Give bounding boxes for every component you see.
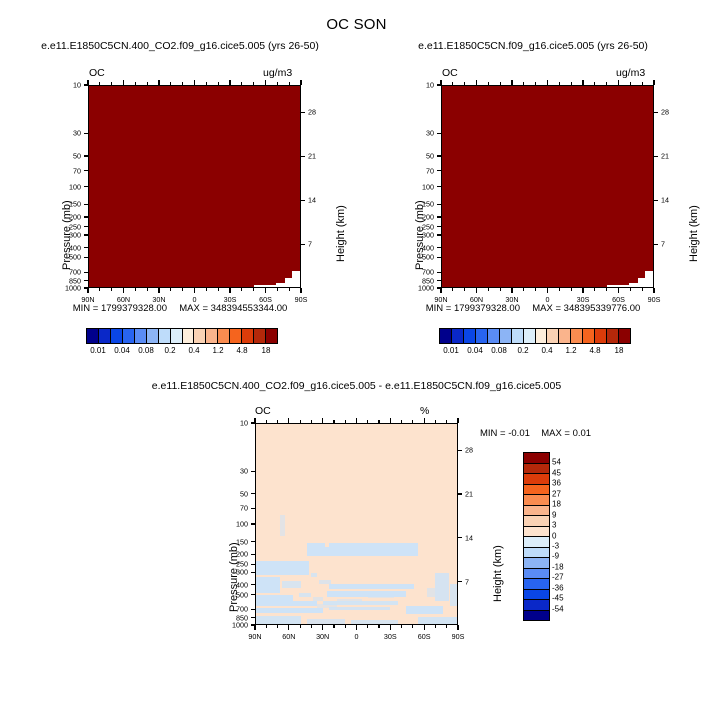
anomaly-band — [311, 573, 317, 577]
colorbar-cell — [440, 329, 452, 343]
colorbar-cell — [254, 329, 266, 343]
colorbar-tick-label: -18 — [552, 562, 564, 571]
min-value-diff: MIN = -0.01 — [480, 428, 530, 439]
y2-tick-label: 14 — [308, 196, 316, 205]
y2-tick-mark — [301, 244, 305, 245]
x-top-minor-tick-mark — [311, 420, 312, 423]
x-minor-tick-mark — [500, 288, 501, 291]
x-top-minor-tick-mark — [147, 82, 148, 85]
y-tick-label: 100 — [399, 182, 434, 191]
colorbar-tick-label: -36 — [552, 583, 564, 592]
y2-tick-mark — [654, 112, 658, 113]
y2-tick-mark — [458, 581, 462, 582]
min-value-control: MIN = 1799379328.00 — [426, 303, 520, 314]
colorbar-labels-control: 0.010.040.080.20.41.24.818 — [439, 346, 629, 358]
colorbar-cell — [524, 537, 549, 548]
anomaly-band — [307, 619, 346, 625]
x-minor-tick-mark — [523, 288, 524, 291]
colorbar-cell — [583, 329, 595, 343]
x-minor-tick-mark — [401, 625, 402, 628]
y2-tick-mark — [458, 537, 462, 538]
anomaly-band — [256, 616, 301, 625]
y-tick-mark — [251, 617, 255, 618]
colorbar-test-case — [86, 328, 278, 344]
colorbar-tick-label: 18 — [262, 346, 271, 355]
terrain-mask-notch-3 — [276, 283, 285, 287]
colorbar-cell — [524, 495, 549, 506]
panel-difference: e.e11.E1850C5CN.400_CO2.f09_g16.cice5.00… — [100, 380, 613, 660]
x-tick-mark — [390, 625, 391, 630]
y2-tick-label: 7 — [308, 240, 312, 249]
max-value-diff: MAX = 0.01 — [541, 428, 591, 439]
y2-axis-label-height-right: Height (km) — [688, 205, 700, 262]
colorbar-cell — [524, 329, 536, 343]
anomaly-band — [280, 515, 285, 536]
y-tick-label: 10 — [213, 419, 248, 428]
x-top-minor-tick-mark — [535, 82, 536, 85]
anomaly-band — [317, 604, 337, 608]
y2-tick-label: 28 — [465, 446, 473, 455]
colorbar-tick-label: 0.08 — [138, 346, 154, 355]
terrain-mask-notch-2 — [285, 278, 292, 287]
y-tick-label: 200 — [399, 213, 434, 222]
y-tick-mark — [437, 234, 441, 235]
x-top-tick-mark — [322, 418, 323, 423]
x-minor-tick-mark — [435, 625, 436, 628]
y-tick-label: 1000 — [399, 284, 434, 293]
colorbar-cell — [595, 329, 607, 343]
x-tick-mark — [582, 288, 583, 293]
anomaly-band — [450, 584, 458, 607]
x-minor-tick-mark — [452, 288, 453, 291]
y2-tick-label: 28 — [661, 108, 669, 117]
y2-tick-label: 14 — [661, 196, 669, 205]
x-top-tick-mark — [158, 80, 159, 85]
colorbar-cell — [571, 329, 583, 343]
variable-label-control: OC — [442, 67, 458, 79]
x-top-minor-tick-mark — [345, 420, 346, 423]
x-top-minor-tick-mark — [218, 82, 219, 85]
x-minor-tick-mark — [345, 625, 346, 628]
colorbar-tick-label: -3 — [552, 541, 559, 550]
colorbar-tick-label: 0.01 — [90, 346, 106, 355]
y2-tick-mark — [458, 493, 462, 494]
colorbar-cell — [476, 329, 488, 343]
x-top-tick-mark — [356, 418, 357, 423]
colorbar-tick-label: 4.8 — [236, 346, 247, 355]
colorbar-cell — [524, 453, 549, 464]
x-top-minor-tick-mark — [253, 82, 254, 85]
y-tick-label: 300 — [46, 230, 81, 239]
y2-tick-mark — [654, 156, 658, 157]
y-tick-label: 400 — [399, 243, 434, 252]
y-tick-label: 1000 — [46, 284, 81, 293]
x-top-minor-tick-mark — [401, 420, 402, 423]
colorbar-difference — [523, 452, 550, 621]
y-tick-mark — [251, 523, 255, 524]
colorbar-cell — [242, 329, 254, 343]
colorbar-cell — [111, 329, 123, 343]
anomaly-band — [307, 543, 325, 557]
x-minor-tick-mark — [277, 288, 278, 291]
x-top-tick-mark — [653, 80, 654, 85]
x-minor-tick-mark — [367, 625, 368, 628]
y-tick-label: 100 — [213, 520, 248, 529]
colorbar-tick-label: -27 — [552, 573, 564, 582]
x-top-minor-tick-mark — [559, 82, 560, 85]
heatmap-fill-control — [442, 86, 653, 287]
x-minor-tick-mark — [488, 288, 489, 291]
colorbar-cell — [464, 329, 476, 343]
colorbar-cell — [183, 329, 195, 343]
x-top-minor-tick-mark — [170, 82, 171, 85]
y-tick-mark — [251, 564, 255, 565]
x-top-tick-mark — [194, 80, 195, 85]
y2-tick-mark — [654, 244, 658, 245]
colorbar-cell — [524, 590, 549, 601]
y-tick-mark — [84, 133, 88, 134]
colorbar-tick-label: 0.01 — [443, 346, 459, 355]
y2-tick-label: 7 — [661, 240, 665, 249]
colorbar-tick-label: 0 — [552, 531, 556, 540]
anomaly-band — [299, 593, 311, 597]
x-tick-mark — [457, 625, 458, 630]
x-tick-mark — [158, 288, 159, 293]
x-top-minor-tick-mark — [435, 420, 436, 423]
y-tick-mark — [84, 234, 88, 235]
colorbar-cell — [512, 329, 524, 343]
colorbar-tick-label: 27 — [552, 489, 561, 498]
y-tick-label: 10 — [399, 81, 434, 90]
x-minor-tick-mark — [378, 625, 379, 628]
page-title: OC SON — [0, 16, 713, 33]
y-tick-label: 300 — [399, 230, 434, 239]
panel-title-difference: e.e11.E1850C5CN.400_CO2.f09_g16.cice5.00… — [100, 380, 613, 392]
x-minor-tick-mark — [559, 288, 560, 291]
colorbar-labels-difference: 5445362718930-3-9-18-27-36-45-54 — [552, 452, 592, 619]
colorbar-tick-label: 18 — [552, 500, 561, 509]
y2-tick-mark — [301, 156, 305, 157]
x-tick-mark — [476, 288, 477, 293]
x-minor-tick-mark — [594, 288, 595, 291]
anomaly-band — [325, 547, 329, 557]
colorbar-tick-label: 1.2 — [565, 346, 576, 355]
x-minor-tick-mark — [182, 288, 183, 291]
colorbar-control-case — [439, 328, 631, 344]
x-tick-mark — [618, 288, 619, 293]
x-top-minor-tick-mark — [571, 82, 572, 85]
plot-area-difference — [255, 423, 458, 625]
panel-test-case: e.e11.E1850C5CN.400_CO2.f09_g16.cice5.00… — [15, 40, 345, 370]
y-tick-mark — [84, 155, 88, 156]
y-tick-label: 400 — [46, 243, 81, 252]
y-tick-mark — [437, 226, 441, 227]
anomaly-band — [427, 588, 435, 597]
x-top-tick-mark — [457, 418, 458, 423]
x-top-minor-tick-mark — [277, 82, 278, 85]
y2-tick-mark — [654, 200, 658, 201]
colorbar-tick-label: 36 — [552, 479, 561, 488]
x-top-minor-tick-mark — [412, 420, 413, 423]
y-tick-mark — [84, 216, 88, 217]
colorbar-cell — [524, 506, 549, 517]
y-tick-mark — [437, 280, 441, 281]
colorbar-tick-label: 1.2 — [212, 346, 223, 355]
x-top-minor-tick-mark — [642, 82, 643, 85]
terrain-mask-notch-r3 — [629, 283, 638, 287]
y2-tick-label: 21 — [308, 152, 316, 161]
x-minor-tick-mark — [412, 625, 413, 628]
colorbar-cell — [171, 329, 183, 343]
x-tick-label: 90S — [452, 632, 465, 641]
x-top-minor-tick-mark — [300, 420, 301, 423]
anomaly-band — [418, 617, 458, 625]
x-top-minor-tick-mark — [630, 82, 631, 85]
x-top-tick-mark — [254, 418, 255, 423]
x-top-minor-tick-mark — [289, 82, 290, 85]
x-tick-mark — [194, 288, 195, 293]
y-tick-label: 50 — [399, 151, 434, 160]
colorbar-cell — [452, 329, 464, 343]
y2-tick-label: 14 — [465, 533, 473, 542]
x-top-minor-tick-mark — [277, 420, 278, 423]
colorbar-cell — [488, 329, 500, 343]
x-tick-mark — [322, 625, 323, 630]
colorbar-cell — [524, 485, 549, 496]
x-minor-tick-mark — [147, 288, 148, 291]
y-tick-label: 30 — [399, 129, 434, 138]
x-tick-mark — [424, 625, 425, 630]
colorbar-tick-label: 18 — [615, 346, 624, 355]
x-tick-label: 30N — [316, 632, 329, 641]
x-top-minor-tick-mark — [99, 82, 100, 85]
y-tick-label: 30 — [46, 129, 81, 138]
colorbar-cell — [500, 329, 512, 343]
x-top-tick-mark — [424, 418, 425, 423]
y-tick-label: 300 — [213, 568, 248, 577]
x-top-tick-mark — [288, 418, 289, 423]
x-top-tick-mark — [547, 80, 548, 85]
x-top-tick-mark — [229, 80, 230, 85]
minmax-text-diff: MIN = -0.01 MAX = 0.01 — [480, 428, 660, 439]
x-tick-label: 30S — [384, 632, 397, 641]
anomaly-band — [256, 577, 280, 593]
x-tick-mark — [87, 288, 88, 293]
x-tick-mark — [356, 625, 357, 630]
y-tick-mark — [84, 226, 88, 227]
x-tick-mark — [547, 288, 548, 293]
y-tick-mark — [437, 155, 441, 156]
colorbar-cell — [159, 329, 171, 343]
y-tick-mark — [437, 204, 441, 205]
colorbar-tick-label: -54 — [552, 604, 564, 613]
colorbar-cell — [218, 329, 230, 343]
x-top-tick-mark — [300, 80, 301, 85]
x-top-minor-tick-mark — [241, 82, 242, 85]
y-tick-mark — [84, 170, 88, 171]
y-tick-mark — [84, 204, 88, 205]
x-minor-tick-mark — [333, 625, 334, 628]
x-minor-tick-mark — [218, 288, 219, 291]
x-tick-mark — [254, 625, 255, 630]
x-minor-tick-mark — [311, 625, 312, 628]
y-tick-mark — [251, 609, 255, 610]
x-minor-tick-mark — [446, 625, 447, 628]
colorbar-tick-label: 9 — [552, 510, 556, 519]
colorbar-cell — [536, 329, 548, 343]
terrain-mask-notch-r2 — [638, 278, 645, 287]
variable-label-test: OC — [89, 67, 105, 79]
y-tick-label: 100 — [46, 182, 81, 191]
x-tick-mark — [265, 288, 266, 293]
unit-label-diff: % — [420, 405, 429, 417]
terrain-mask-notch — [292, 271, 300, 287]
y-tick-label: 200 — [46, 213, 81, 222]
y-tick-label: 150 — [46, 200, 81, 209]
y-tick-label: 1000 — [213, 621, 248, 630]
anomaly-band — [327, 591, 406, 597]
colorbar-cell — [524, 600, 549, 611]
variable-label-diff: OC — [255, 405, 271, 417]
y-tick-mark — [437, 133, 441, 134]
panel-title-control-case: e.e11.E1850C5CN.f09_g16.cice5.005 (yrs 2… — [368, 40, 698, 52]
colorbar-cell — [123, 329, 135, 343]
y-tick-label: 500 — [46, 253, 81, 262]
x-top-minor-tick-mark — [111, 82, 112, 85]
y2-tick-label: 21 — [661, 152, 669, 161]
colorbar-tick-label: 0.04 — [114, 346, 130, 355]
colorbar-labels-test: 0.010.040.080.20.41.24.818 — [86, 346, 276, 358]
x-top-minor-tick-mark — [606, 82, 607, 85]
x-top-tick-mark — [123, 80, 124, 85]
x-top-tick-mark — [390, 418, 391, 423]
anomaly-band — [406, 606, 443, 614]
x-tick-mark — [300, 288, 301, 293]
y-tick-label: 50 — [213, 489, 248, 498]
x-minor-tick-mark — [170, 288, 171, 291]
y2-tick-label: 7 — [465, 577, 469, 586]
heatmap-fill-test — [89, 86, 300, 287]
x-minor-tick-mark — [300, 625, 301, 628]
colorbar-cell — [524, 516, 549, 527]
min-value-test: MIN = 1799379328.00 — [73, 303, 167, 314]
x-top-tick-mark — [265, 80, 266, 85]
y-tick-mark — [437, 272, 441, 273]
x-minor-tick-mark — [277, 625, 278, 628]
colorbar-cell — [524, 548, 549, 559]
x-top-tick-mark — [511, 80, 512, 85]
colorbar-tick-label: 4.8 — [589, 346, 600, 355]
x-minor-tick-mark — [241, 288, 242, 291]
anomaly-band — [351, 620, 398, 624]
x-minor-tick-mark — [99, 288, 100, 291]
y-tick-mark — [84, 280, 88, 281]
x-top-tick-mark — [87, 80, 88, 85]
anomaly-band — [329, 584, 414, 589]
x-minor-tick-mark — [135, 288, 136, 291]
y-tick-mark — [84, 257, 88, 258]
x-top-minor-tick-mark — [206, 82, 207, 85]
colorbar-tick-label: -45 — [552, 594, 564, 603]
y-tick-label: 30 — [213, 467, 248, 476]
x-tick-label: 0 — [355, 632, 359, 641]
x-tick-mark — [123, 288, 124, 293]
y-tick-label: 400 — [213, 580, 248, 589]
y-tick-mark — [84, 272, 88, 273]
x-minor-tick-mark — [289, 288, 290, 291]
max-value-control: MAX = 348395339776.00 — [532, 303, 640, 314]
y-tick-mark — [84, 186, 88, 187]
colorbar-tick-label: 0.08 — [491, 346, 507, 355]
anomaly-band — [337, 599, 361, 602]
anomaly-band — [435, 573, 449, 600]
y-tick-label: 500 — [399, 253, 434, 262]
y2-tick-label: 21 — [465, 489, 473, 498]
y-tick-label: 200 — [213, 550, 248, 559]
colorbar-cell — [230, 329, 242, 343]
x-top-tick-mark — [582, 80, 583, 85]
x-tick-label: 60S — [418, 632, 431, 641]
anomaly-band — [256, 601, 317, 606]
terrain-mask-notch-r — [645, 271, 653, 287]
y-tick-label: 150 — [213, 537, 248, 546]
x-minor-tick-mark — [111, 288, 112, 291]
y2-tick-mark — [458, 450, 462, 451]
x-minor-tick-mark — [535, 288, 536, 291]
colorbar-cell — [547, 329, 559, 343]
colorbar-tick-label: 0.2 — [517, 346, 528, 355]
x-top-minor-tick-mark — [464, 82, 465, 85]
y-tick-label: 150 — [399, 200, 434, 209]
y-tick-mark — [251, 471, 255, 472]
anomaly-band — [256, 595, 293, 601]
colorbar-cell — [135, 329, 147, 343]
colorbar-cell — [524, 611, 549, 621]
colorbar-tick-label: 45 — [552, 468, 561, 477]
anomaly-band — [329, 543, 418, 557]
y-tick-mark — [251, 572, 255, 573]
colorbar-cell — [524, 474, 549, 485]
unit-label-test: ug/m3 — [263, 67, 292, 79]
x-top-minor-tick-mark — [523, 82, 524, 85]
terrain-mask-notch-r4 — [607, 285, 629, 287]
minmax-text-control: MIN = 1799379328.00 MAX = 348395339776.0… — [368, 303, 698, 314]
x-tick-label: 60N — [282, 632, 295, 641]
colorbar-cell — [559, 329, 571, 343]
colorbar-tick-label: 3 — [552, 521, 556, 530]
colorbar-cell — [524, 579, 549, 590]
anomaly-band — [282, 581, 300, 588]
y-tick-mark — [437, 257, 441, 258]
plot-area-test-case — [88, 85, 301, 288]
colorbar-cell — [147, 329, 159, 343]
y-tick-mark — [251, 541, 255, 542]
panel-control-case: e.e11.E1850C5CN.f09_g16.cice5.005 (yrs 2… — [368, 40, 698, 370]
y-tick-label: 70 — [399, 166, 434, 175]
y2-tick-label: 28 — [308, 108, 316, 117]
anomaly-band — [256, 608, 323, 613]
x-minor-tick-mark — [464, 288, 465, 291]
colorbar-cell — [607, 329, 619, 343]
x-top-minor-tick-mark — [135, 82, 136, 85]
x-top-minor-tick-mark — [452, 82, 453, 85]
x-tick-mark — [440, 288, 441, 293]
y2-tick-mark — [301, 200, 305, 201]
x-tick-mark — [288, 625, 289, 630]
x-top-minor-tick-mark — [367, 420, 368, 423]
y-tick-label: 10 — [46, 81, 81, 90]
x-tick-label: 90N — [248, 632, 261, 641]
